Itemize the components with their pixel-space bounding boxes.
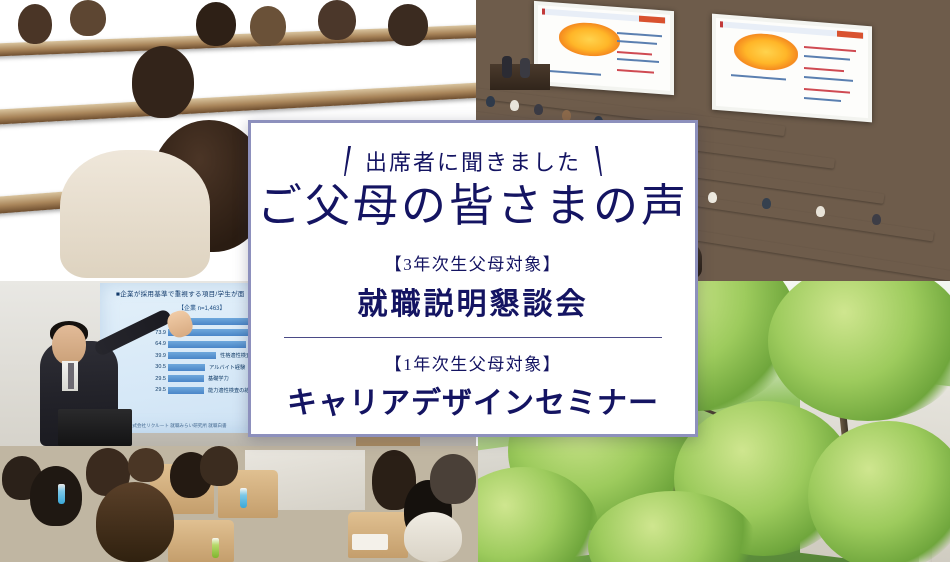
diagonal-tick-left-icon <box>344 146 351 176</box>
person-silhouette <box>200 446 238 486</box>
water-bottle <box>212 538 219 558</box>
person-silhouette <box>196 2 236 46</box>
slide-text-line <box>617 58 659 63</box>
chart-bar <box>168 352 216 359</box>
seat-back <box>168 520 234 562</box>
presenter-head <box>52 325 86 365</box>
chart-bar <box>168 341 246 348</box>
diagonal-tick-right-icon <box>595 146 602 176</box>
page-title: ご父母の皆さまの声 <box>257 183 689 230</box>
person-silhouette <box>30 466 82 526</box>
attendee-dot <box>708 192 717 203</box>
chart-value: 30.5 <box>144 364 166 370</box>
chart-bar <box>168 387 204 394</box>
handout-paper <box>352 534 388 550</box>
slide-surface <box>716 18 868 118</box>
slide-chart-title: ■企業が採用基準で重視する項目/学生が面 <box>116 288 245 298</box>
photo-seated-attendees <box>0 446 478 562</box>
person-shoulders <box>60 150 210 278</box>
slide-badge <box>837 31 863 39</box>
chart-value: 64.9 <box>144 341 166 347</box>
slide-highlight-burst <box>734 32 798 72</box>
person-silhouette <box>318 0 356 40</box>
slide-text-line <box>804 97 840 102</box>
desk-row <box>0 82 476 125</box>
eyebrow-text: 出席者に聞きました <box>365 145 581 177</box>
person-silhouette <box>132 46 194 118</box>
slide-text-line <box>617 69 654 74</box>
slide-text-line <box>617 40 657 45</box>
water-bottle <box>240 488 247 508</box>
attendee-dot <box>510 100 519 111</box>
section2-bracket: 【1年次生父母対象】 <box>385 350 562 375</box>
slide-highlight-burst <box>559 20 620 58</box>
speaker-silhouette <box>502 56 512 78</box>
slide-text-line <box>731 74 786 80</box>
person-silhouette <box>388 4 428 46</box>
chart-value: 39.9 <box>144 353 166 359</box>
slide-text-line <box>804 67 844 72</box>
title-card: 出席者に聞きました ご父母の皆さまの声 【3年次生父母対象】 就職説明懇談会 【… <box>248 120 698 437</box>
chart-value: 29.5 <box>144 376 166 382</box>
slide-text-line <box>804 55 850 61</box>
section1-title: 就職説明懇談会 <box>358 279 589 323</box>
person-silhouette <box>70 0 106 36</box>
chart-value: 29.5 <box>144 387 166 393</box>
slide-text-line <box>804 46 856 52</box>
attendee-dot <box>534 104 543 115</box>
slide-chart-note: [出典]株式会社リクルート 就職みらい研究所 就職白書 <box>116 423 227 429</box>
slide-badge <box>639 16 665 24</box>
slide-text-line <box>617 50 651 55</box>
person-silhouette <box>96 482 174 562</box>
person-shoulders <box>404 512 462 562</box>
section-divider <box>284 337 662 338</box>
poster-canvas: ■企業が採用基準で重視する項目/学生が面 【企業 n=1,463】 92.9 人… <box>0 0 950 562</box>
attendee-dot <box>762 198 771 209</box>
attendee-dot <box>816 206 825 217</box>
attendee-dot <box>872 214 881 225</box>
person-silhouette <box>128 448 164 482</box>
projection-screen-left <box>534 1 674 95</box>
section1-bracket: 【3年次生父母対象】 <box>385 250 562 275</box>
person-silhouette <box>430 454 476 504</box>
slide-surface <box>538 5 670 91</box>
water-bottle <box>58 484 65 504</box>
chart-label: 基礎学力 <box>208 375 229 382</box>
speaker-silhouette <box>520 58 530 78</box>
slide-text-line <box>804 88 850 94</box>
chart-label: アルバイト経験 <box>209 364 245 371</box>
slide-text-line <box>804 76 853 82</box>
person-silhouette <box>18 4 52 44</box>
chart-bar <box>168 375 204 382</box>
chart-bar <box>168 364 205 371</box>
slide-text-line <box>617 32 662 37</box>
projection-screen-right <box>712 14 872 123</box>
attendee-dot <box>486 96 495 107</box>
eyebrow-row: 出席者に聞きました <box>344 145 602 177</box>
confidence-monitor <box>58 409 132 446</box>
section2-title: キャリアデザインセミナー <box>287 378 659 422</box>
person-silhouette <box>250 6 286 46</box>
presenter-tie <box>68 363 74 389</box>
slide-text-line <box>549 70 602 76</box>
